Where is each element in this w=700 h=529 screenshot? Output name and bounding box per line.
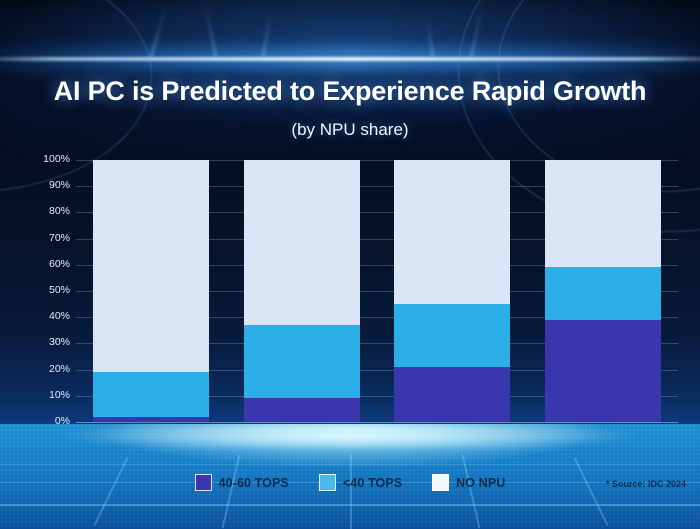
floor-grid-line (350, 454, 352, 529)
bar-segment-40-60-tops[interactable] (394, 367, 510, 422)
bar-segment--40-tops[interactable] (394, 304, 510, 367)
slide-canvas: AI PC is Predicted to Experience Rapid G… (0, 0, 700, 529)
legend-swatch-icon (195, 474, 212, 491)
bar-segment-40-60-tops[interactable] (244, 398, 360, 422)
bar-segment-no-npu[interactable] (244, 160, 360, 325)
bar-segment-no-npu[interactable] (545, 160, 661, 267)
legend-label: 40-60 TOPS (219, 476, 289, 490)
bar-2025[interactable] (244, 160, 360, 422)
bar-segment--40-tops[interactable] (545, 267, 661, 319)
y-axis-tick-label: 40% (24, 310, 70, 322)
bar-segment-40-60-tops[interactable] (93, 417, 209, 422)
source-note: * Source: IDC 2024 (606, 479, 686, 489)
bar-segment-40-60-tops[interactable] (545, 320, 661, 422)
chart-legend: 40-60 TOPS<40 TOPSNO NPU (0, 474, 700, 491)
stacked-bar-chart: Share 0%10%20%30%40%50%60%70%80%90%100% … (0, 160, 700, 440)
bar-2027[interactable] (545, 160, 661, 422)
legend-label: <40 TOPS (343, 476, 402, 490)
plot-area (76, 160, 678, 422)
legend-item[interactable]: 40-60 TOPS (195, 474, 289, 491)
grid-line (76, 422, 678, 423)
y-axis-tick-label: 100% (24, 153, 70, 165)
bar-2026[interactable] (394, 160, 510, 422)
legend-label: NO NPU (456, 476, 505, 490)
page-title: AI PC is Predicted to Experience Rapid G… (0, 76, 700, 107)
y-axis-tick-label: 70% (24, 232, 70, 244)
bar-2024[interactable] (93, 160, 209, 422)
bar-segment-no-npu[interactable] (93, 160, 209, 372)
bar-segment--40-tops[interactable] (93, 372, 209, 417)
legend-swatch-icon (432, 474, 449, 491)
y-axis-tick-label: 80% (24, 205, 70, 217)
bar-segment--40-tops[interactable] (244, 325, 360, 398)
page-subtitle: (by NPU share) (0, 120, 700, 140)
y-axis-tick-label: 30% (24, 336, 70, 348)
legend-swatch-icon (319, 474, 336, 491)
y-axis-tick-label: 20% (24, 363, 70, 375)
y-axis-tick-label: 90% (24, 179, 70, 191)
legend-item[interactable]: NO NPU (432, 474, 505, 491)
y-axis-tick-label: 50% (24, 284, 70, 296)
legend-item[interactable]: <40 TOPS (319, 474, 402, 491)
bar-segment-no-npu[interactable] (394, 160, 510, 304)
y-axis-tick-label: 10% (24, 389, 70, 401)
y-axis-tick-label: 60% (24, 258, 70, 270)
